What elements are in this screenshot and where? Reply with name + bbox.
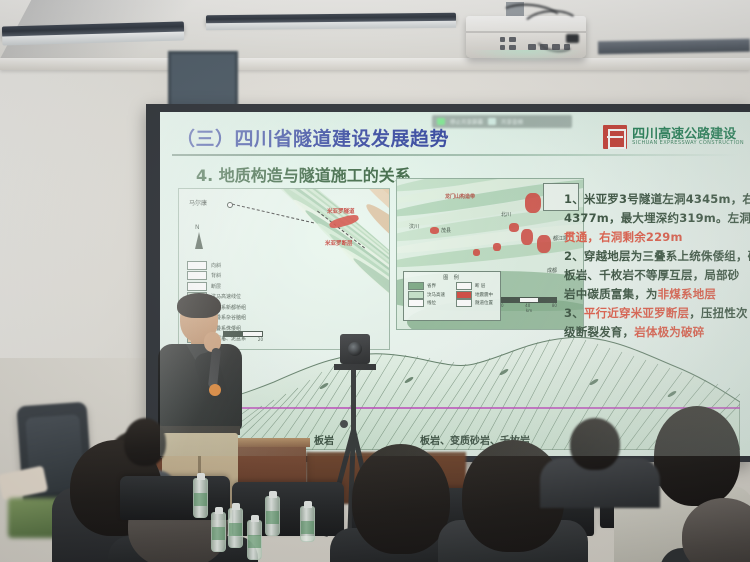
bottle-label — [248, 535, 261, 548]
body-line: 贯通，右洞剩余229m — [564, 228, 750, 247]
legend-swatch — [408, 299, 424, 307]
body-line: 3、平行近穿米亚罗断层，压扭性次 — [564, 304, 750, 323]
seismic-epicenter — [473, 249, 480, 256]
scale-unit: km — [501, 308, 557, 313]
legend-item: 线位 — [408, 300, 452, 307]
bottle-label — [301, 521, 314, 534]
legend-label: 断层 — [211, 283, 221, 290]
scale-tick: 80 — [552, 303, 557, 308]
legend-label: 省界 — [427, 283, 436, 289]
legend-item: 省界 — [408, 283, 452, 290]
legend-item: 向斜 — [187, 261, 307, 269]
presenter-hair — [177, 293, 221, 318]
bottle-label — [212, 527, 225, 540]
bottle-cap — [197, 473, 205, 480]
ceiling-beam — [0, 58, 750, 70]
logo-text: 四川高速公路建设 SICHUAN EXPRESSWAY CONSTRUCTION — [632, 128, 744, 147]
title-divider — [172, 154, 738, 156]
water-bottle — [300, 506, 315, 542]
logo-mark-icon — [603, 125, 627, 149]
legend-swatch — [456, 282, 472, 290]
legend-label: 向斜 — [211, 262, 221, 269]
legend-label: 隧道位置 — [475, 300, 493, 306]
body-text: 4377m，最大埋深约319m。左洞已 — [564, 211, 750, 225]
cable-plug — [566, 34, 579, 43]
body-text: 2、穿越地层为三叠系上统侏倭组，砂 — [564, 249, 750, 263]
map-scalebar-right: 0 40 80 km — [501, 297, 557, 313]
legend-label: 汶马高速 — [427, 292, 445, 298]
body-line: 2、穿越地层为三叠系上统侏倭组，砂 — [564, 247, 750, 266]
north-arrow-icon: N — [191, 225, 207, 251]
ceiling-light-fixture — [206, 13, 456, 25]
water-bottle — [247, 520, 262, 560]
water-bottle — [211, 512, 226, 552]
body-text-highlight: 非煤系地层 — [658, 287, 717, 301]
bottle-cap — [269, 491, 277, 498]
audience-head — [654, 406, 740, 506]
body-text: 3、 — [564, 306, 584, 320]
seismic-epicenter — [430, 227, 439, 234]
legend-label: 断 层 — [475, 283, 485, 289]
legend-item: 汶马高速 — [408, 291, 452, 298]
legend-swatch — [408, 291, 424, 299]
seismic-epicenter — [493, 243, 501, 251]
legend-item: 断层 — [187, 282, 307, 290]
audience-head — [570, 418, 620, 470]
slide-subtitle: 4. 地质构造与隧道施工的关系 — [196, 162, 411, 186]
legend-item: 隧道位置 — [456, 300, 500, 307]
legend-item: 背斜 — [187, 272, 307, 280]
bottle-cap — [251, 515, 259, 522]
map-legend-right: 图 例 省界 汶马高速 线位 断 层 地震震中 隧道位置 — [403, 271, 501, 321]
audience-head — [124, 418, 166, 466]
body-line: 板岩、千枚岩不等厚互层，局部砂 — [564, 266, 750, 285]
legend-item: 断 层 — [456, 283, 500, 290]
place-label: 成都 — [547, 267, 557, 274]
body-text-highlight: 贯通，右洞剩余229m — [564, 230, 683, 244]
speaker-icon — [488, 118, 496, 125]
legend-swatch — [408, 282, 424, 290]
seismic-epicenter — [537, 235, 551, 253]
body-text: 板岩、千枚岩不等厚互层，局部砂 — [564, 268, 740, 282]
body-line: 岩中碳质富集，为非煤系地层 — [564, 285, 750, 304]
geologic-map-right: 龙门山构造带 北川 茂县 都江堰 成都 汶川 图 例 省界 汶马高速 线位 — [396, 178, 584, 330]
bottle-cap — [232, 503, 240, 510]
place-label: 北川 — [501, 211, 511, 218]
legend-label: 线位 — [427, 300, 436, 306]
scale-tick: 0 — [501, 303, 504, 308]
legend-swatch — [187, 282, 207, 291]
bottle-label — [266, 511, 279, 524]
seismic-epicenter — [509, 223, 519, 232]
water-bottle — [193, 478, 208, 518]
legend-swatch — [187, 261, 207, 270]
body-text: 1、米亚罗3号隧道左洞4345m，右洞 — [564, 192, 750, 206]
body-text: ，压扭性次 — [689, 306, 748, 320]
share-audio-label[interactable]: 共享音频 — [501, 118, 523, 126]
camera-lens-icon — [348, 342, 362, 356]
legend-title: 图 例 — [404, 274, 500, 281]
legend-label: 地震震中 — [475, 292, 493, 298]
projector-light-beam — [470, 50, 582, 62]
ceiling-duct — [598, 39, 750, 55]
legend-swatch — [187, 271, 207, 280]
water-bottle — [228, 508, 243, 548]
microphone-indicator — [209, 384, 221, 396]
bottle-cap — [215, 507, 223, 514]
screen-share-toolbar[interactable]: 停止共享屏幕 共享音频 — [432, 115, 572, 128]
tunnel-tag: 米亚罗隧道 — [327, 207, 355, 215]
legend-swatch — [456, 299, 472, 307]
body-text: 岩中碳质富集，为 — [564, 287, 658, 301]
company-logo: 四川高速公路建设 SICHUAN EXPRESSWAY CONSTRUCTION — [603, 120, 744, 154]
projector-port — [500, 37, 505, 42]
legend-label: 背斜 — [211, 272, 221, 279]
signal-icon — [437, 118, 445, 125]
legend-item: 地震震中 — [456, 291, 500, 298]
water-bottle — [265, 496, 280, 536]
seismic-epicenter — [525, 193, 541, 213]
body-line: 4377m，最大埋深约319m。左洞已 — [564, 209, 750, 228]
region-label: 龙门山构造带 — [445, 193, 475, 200]
presentation-room-photo: （三）四川省隧道建设发展趋势 4. 地质构造与隧道施工的关系 四川高速公路建设 … — [0, 0, 750, 562]
projector-port — [509, 37, 516, 42]
bottle-cap — [304, 501, 312, 508]
seismic-epicenter — [521, 229, 533, 245]
tripod-knob — [340, 420, 348, 428]
map-city-label: 马尔康 — [189, 198, 207, 207]
bottle-label — [194, 493, 207, 506]
stop-share-label[interactable]: 停止共享屏幕 — [450, 118, 483, 126]
video-camera — [340, 334, 370, 364]
body-text-highlight: 平行近穿米亚罗断层 — [584, 306, 689, 320]
place-label: 汶川 — [409, 223, 419, 230]
place-label: 茂县 — [441, 227, 451, 234]
fault-tag: 米亚罗断层 — [325, 239, 353, 247]
bottle-label — [229, 523, 242, 536]
logo-name-cn: 四川高速公路建设 — [632, 128, 744, 142]
logo-name-en: SICHUAN EXPRESSWAY CONSTRUCTION — [632, 141, 744, 146]
tripod-column — [351, 370, 356, 434]
legend-swatch — [456, 291, 472, 299]
body-line: 1、米亚罗3号隧道左洞4345m，右洞 — [564, 190, 750, 209]
audience-head — [352, 444, 450, 554]
